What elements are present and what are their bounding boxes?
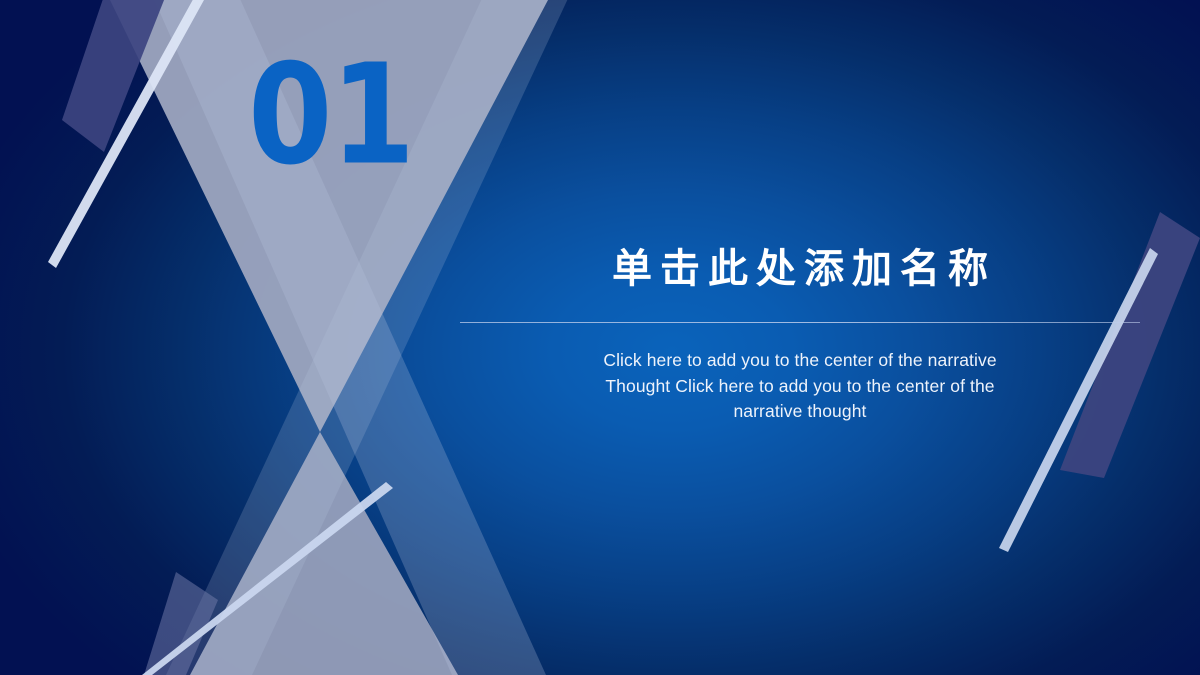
body-line-3: narrative thought xyxy=(460,399,1140,425)
decorative-shapes-layer xyxy=(0,0,1200,675)
presentation-slide: 01 单击此处添加名称 Click here to add you to the… xyxy=(0,0,1200,675)
body-text: Click here to add you to the center of t… xyxy=(460,348,1140,425)
title-divider xyxy=(460,322,1140,323)
section-number: 01 xyxy=(248,46,413,185)
body-line-1: Click here to add you to the center of t… xyxy=(460,348,1140,374)
page-title: 单击此处添加名称 xyxy=(460,246,1140,292)
body-line-2: Thought Click here to add you to the cen… xyxy=(460,374,1140,400)
